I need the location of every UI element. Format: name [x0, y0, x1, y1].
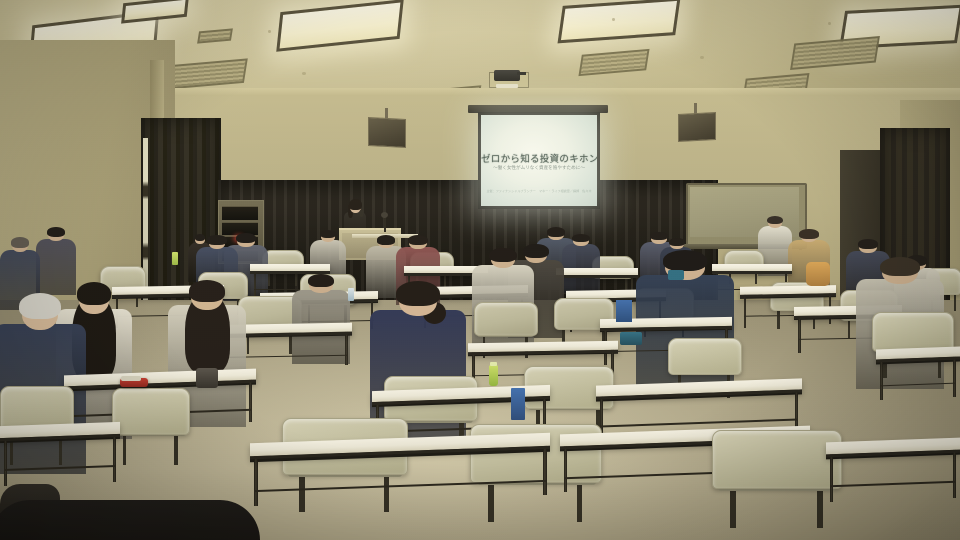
desk-leg: [798, 315, 801, 353]
bottle-cap: [490, 362, 497, 366]
teal-tote-bag: [668, 270, 684, 280]
attendee-back-right-1-hair: [650, 232, 667, 241]
attendee-back-left-2: [36, 239, 76, 295]
folding-desk: [740, 285, 836, 298]
blue-folder: [616, 300, 632, 322]
attendee-back-right-3-hair: [799, 229, 818, 238]
desk-leg: [953, 355, 956, 397]
attendee-dark-hair-right: [636, 275, 734, 395]
stacking-chair: [712, 430, 842, 489]
stacking-chair: [112, 388, 190, 435]
folding-desk: [712, 264, 792, 274]
attendee-back-left-2-hair: [47, 227, 65, 237]
desk-leg: [113, 432, 116, 482]
desk-leg: [744, 294, 746, 328]
dark-handbag: [196, 368, 218, 388]
green-drink-bottle: [172, 252, 178, 265]
attendee-red-scarf-hair: [408, 235, 428, 245]
desk-leg: [830, 452, 833, 502]
attendee-back-mid-2-hair: [377, 235, 395, 244]
attendee-dark-hair-right-hair: [663, 250, 708, 271]
attendee-gray-hoodie-right-hair: [880, 257, 920, 276]
attendee-back-mid-4-hair: [572, 234, 589, 243]
desk-leg: [249, 376, 252, 422]
attendee-dark-top-mid-hair: [523, 244, 549, 258]
attendee-back-left-3-hair: [207, 235, 226, 245]
desk-rail: [254, 480, 546, 492]
desk-rail: [600, 418, 798, 426]
attendee-back-left-1-hair: [11, 237, 29, 248]
attendee-back-mid-1-hair: [320, 230, 336, 239]
attendee-back-right-2-hair: [767, 216, 783, 225]
desk-leg: [795, 386, 798, 432]
attendee-aisle-standing-hair: [195, 234, 206, 241]
attendee-grey-sweater-hair: [308, 274, 334, 287]
teal-tote-bag: [620, 332, 642, 345]
attendee-long-black-hair-hair: [77, 282, 112, 305]
folding-desk: [556, 268, 638, 278]
attendee-back-mid-3-hair: [547, 227, 565, 236]
attendee-navy-center-hair: [396, 281, 440, 306]
desk-leg: [880, 358, 883, 400]
attendee-far-right-navy-hair: [669, 238, 685, 246]
desk-leg: [953, 447, 956, 497]
blue-folder: [511, 388, 525, 420]
foreground-person-back: [0, 500, 260, 540]
attendee-back-left-4-hair: [236, 233, 256, 243]
attendee-back-right-4-hair: [858, 239, 878, 249]
green-drink-bottle: [489, 365, 498, 386]
water-bottle: [348, 288, 354, 301]
desk-rail: [830, 481, 956, 487]
orange-handbag: [806, 262, 830, 286]
desk-leg: [254, 451, 258, 506]
stacking-chair: [474, 302, 538, 336]
attendee-gray-hair-front-left-hair: [19, 293, 61, 319]
attendee-white-top-mid-hair: [489, 248, 517, 262]
attendee-beige-cardigan-hair: [189, 280, 225, 301]
folding-desk: [250, 264, 330, 274]
stacking-chair: [668, 338, 742, 375]
desk-leg: [564, 442, 567, 492]
seminar-room-photo: ゼロから知る投資のキホン 〜働く女性がムリなく資産を殖やすために〜 主催：ファイ…: [0, 0, 960, 540]
desk-leg: [4, 436, 7, 486]
pencil-case-lid: [121, 376, 141, 381]
